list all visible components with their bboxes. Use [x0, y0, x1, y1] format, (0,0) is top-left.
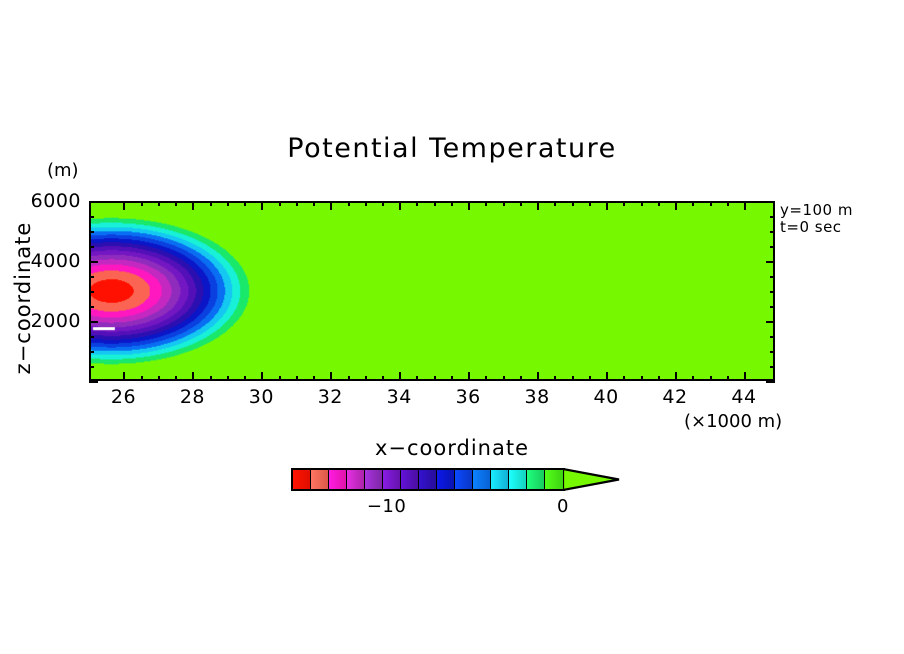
tick-mark [279, 376, 281, 381]
tick-mark [89, 321, 98, 323]
tick-mark [727, 376, 729, 381]
tick-mark [330, 372, 332, 381]
tick-mark [485, 376, 487, 381]
tick-mark [434, 376, 436, 381]
tick-mark [192, 372, 194, 381]
x-axis-unit: (×1000 m) [684, 411, 782, 432]
tick-mark [244, 201, 246, 206]
tick-mark [227, 201, 229, 206]
tick-mark [468, 201, 470, 210]
tick-mark [244, 376, 246, 381]
colorbar-cell [545, 470, 563, 489]
tick-mark [606, 201, 608, 210]
tick-mark [89, 291, 94, 293]
tick-mark [365, 201, 367, 206]
x-axis-label: x−coordinate [0, 436, 904, 460]
colorbar-cell [419, 470, 437, 489]
colorbar-tick-label: 0 [533, 496, 593, 517]
tick-mark [770, 246, 775, 248]
tick-mark [330, 201, 332, 210]
colorbar-cell [473, 470, 491, 489]
tick-mark [770, 336, 775, 338]
colorbar-arrow-icon [563, 468, 621, 491]
colorbar-cell [329, 470, 347, 489]
tick-mark [451, 376, 453, 381]
x-tick-label: 42 [645, 386, 705, 408]
colorbar-tick-label: −10 [357, 496, 417, 517]
tick-mark [296, 376, 298, 381]
tick-mark [658, 201, 660, 206]
colorbar-cell [365, 470, 383, 489]
tick-mark [537, 372, 539, 381]
colorbar-cell [509, 470, 527, 489]
tick-mark [89, 381, 98, 383]
x-tick-label: 40 [576, 386, 636, 408]
tick-mark [766, 381, 775, 383]
tick-mark [675, 372, 677, 381]
tick-mark [572, 201, 574, 206]
tick-mark [503, 376, 505, 381]
tick-mark [348, 201, 350, 206]
tick-mark [399, 372, 401, 381]
x-tick-label: 36 [438, 386, 498, 408]
tick-mark [416, 376, 418, 381]
tick-mark [770, 291, 775, 293]
tick-mark [744, 372, 746, 381]
tick-mark [123, 201, 125, 210]
tick-mark [710, 201, 712, 206]
x-tick-label: 38 [507, 386, 567, 408]
tick-mark [89, 306, 94, 308]
x-tick-label: 32 [300, 386, 360, 408]
tick-mark [227, 376, 229, 381]
x-tick-label: 44 [714, 386, 774, 408]
tick-mark [89, 276, 94, 278]
potential-temperature-field [91, 203, 773, 379]
tick-mark [89, 201, 98, 203]
x-tick-label: 28 [162, 386, 222, 408]
tick-mark [770, 276, 775, 278]
tick-mark [589, 376, 591, 381]
tick-mark [261, 372, 263, 381]
tick-mark [770, 351, 775, 353]
tick-mark [261, 201, 263, 210]
tick-mark [365, 376, 367, 381]
tick-mark [766, 321, 775, 323]
tick-mark [485, 201, 487, 206]
tick-mark [382, 376, 384, 381]
tick-mark [141, 201, 143, 206]
tick-mark [770, 306, 775, 308]
annotation-y-level: y=100 m [780, 201, 853, 219]
tick-mark [451, 201, 453, 206]
tick-mark [141, 376, 143, 381]
tick-mark [89, 336, 94, 338]
tick-mark [313, 201, 315, 206]
tick-mark [158, 376, 160, 381]
colorbar-cells [291, 468, 565, 491]
tick-mark [744, 201, 746, 210]
tick-mark [313, 376, 315, 381]
tick-mark [89, 351, 94, 353]
colorbar-cell [347, 470, 365, 489]
y-axis-label: z−coordinate [11, 213, 35, 383]
tick-mark [766, 261, 775, 263]
tick-mark [296, 201, 298, 206]
tick-mark [770, 366, 775, 368]
tick-mark [175, 201, 177, 206]
tick-mark [606, 372, 608, 381]
tick-mark [675, 201, 677, 210]
tick-mark [554, 376, 556, 381]
tick-mark [770, 231, 775, 233]
tick-mark [554, 201, 556, 206]
x-tick-label: 34 [369, 386, 429, 408]
tick-mark [503, 201, 505, 206]
colorbar-cell [437, 470, 455, 489]
tick-mark [279, 201, 281, 206]
tick-mark [770, 216, 775, 218]
tick-mark [89, 261, 98, 263]
tick-mark [692, 376, 694, 381]
tick-mark [210, 376, 212, 381]
tick-mark [89, 231, 94, 233]
tick-mark [520, 201, 522, 206]
tick-mark [434, 201, 436, 206]
contour-plot-area [89, 201, 775, 381]
tick-mark [766, 201, 775, 203]
tick-mark [382, 201, 384, 206]
colorbar-cell [311, 470, 329, 489]
tick-mark [348, 376, 350, 381]
tick-mark [158, 201, 160, 206]
tick-mark [399, 201, 401, 210]
tick-mark [175, 376, 177, 381]
tick-mark [710, 376, 712, 381]
tick-mark [89, 246, 94, 248]
tick-mark [692, 201, 694, 206]
x-tick-label: 26 [93, 386, 153, 408]
colorbar-cell [491, 470, 509, 489]
y-axis-unit: (m) [47, 160, 79, 181]
tick-mark [589, 201, 591, 206]
tick-mark [416, 201, 418, 206]
tick-mark [623, 201, 625, 206]
tick-mark [641, 376, 643, 381]
tick-mark [572, 376, 574, 381]
tick-mark [468, 372, 470, 381]
colorbar-cell [383, 470, 401, 489]
colorbar-cell [401, 470, 419, 489]
colorbar-cell [527, 470, 545, 489]
y-tick-label: 6000 [1, 190, 81, 212]
tick-mark [123, 372, 125, 381]
tick-mark [537, 201, 539, 210]
tick-mark [89, 366, 94, 368]
tick-mark [727, 201, 729, 206]
tick-mark [89, 216, 94, 218]
colorbar-cell [293, 470, 311, 489]
x-tick-label: 30 [231, 386, 291, 408]
tick-mark [210, 201, 212, 206]
page-title: Potential Temperature [0, 133, 904, 164]
tick-mark [623, 376, 625, 381]
colorbar-cell [455, 470, 473, 489]
tick-mark [520, 376, 522, 381]
tick-mark [658, 376, 660, 381]
tick-mark [641, 201, 643, 206]
tick-mark [192, 201, 194, 210]
annotation-time: t=0 sec [780, 218, 842, 236]
